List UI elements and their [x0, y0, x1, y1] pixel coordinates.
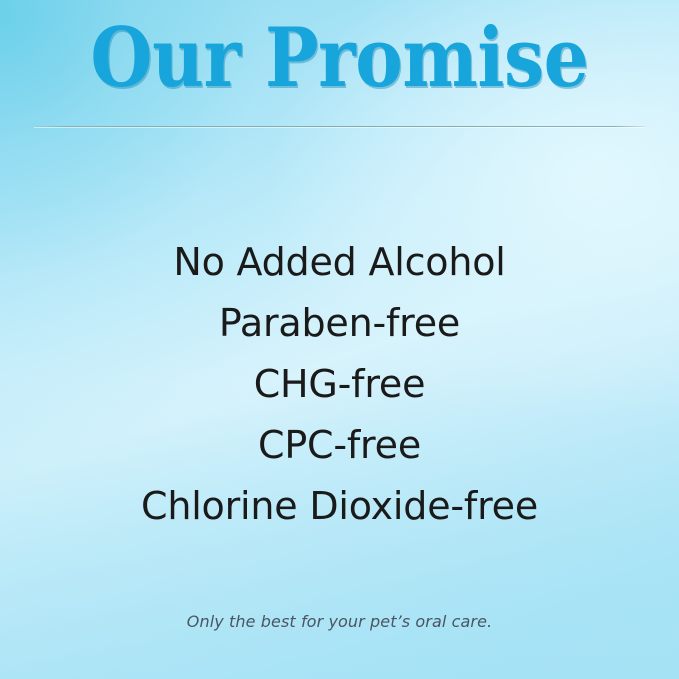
tagline-block: Only the best for your pet’s oral care. — [0, 611, 679, 633]
our-promise-card: Our Promise No Added Alcohol Paraben-fre… — [0, 0, 679, 679]
list-item: No Added Alcohol — [0, 232, 679, 293]
header-divider — [34, 126, 645, 127]
list-item: CPC-free — [0, 415, 679, 476]
list-item: CHG-free — [0, 354, 679, 415]
page-title: Our Promise — [41, 18, 639, 99]
list-item: Chlorine Dioxide-free — [0, 476, 679, 537]
footer-tagline: Only the best for your pet’s oral care. — [0, 611, 679, 633]
list-item: Paraben-free — [0, 293, 679, 354]
card-content: Our Promise No Added Alcohol Paraben-fre… — [0, 0, 679, 679]
promise-list: No Added Alcohol Paraben-free CHG-free C… — [0, 232, 679, 537]
title-block: Our Promise — [0, 18, 679, 99]
